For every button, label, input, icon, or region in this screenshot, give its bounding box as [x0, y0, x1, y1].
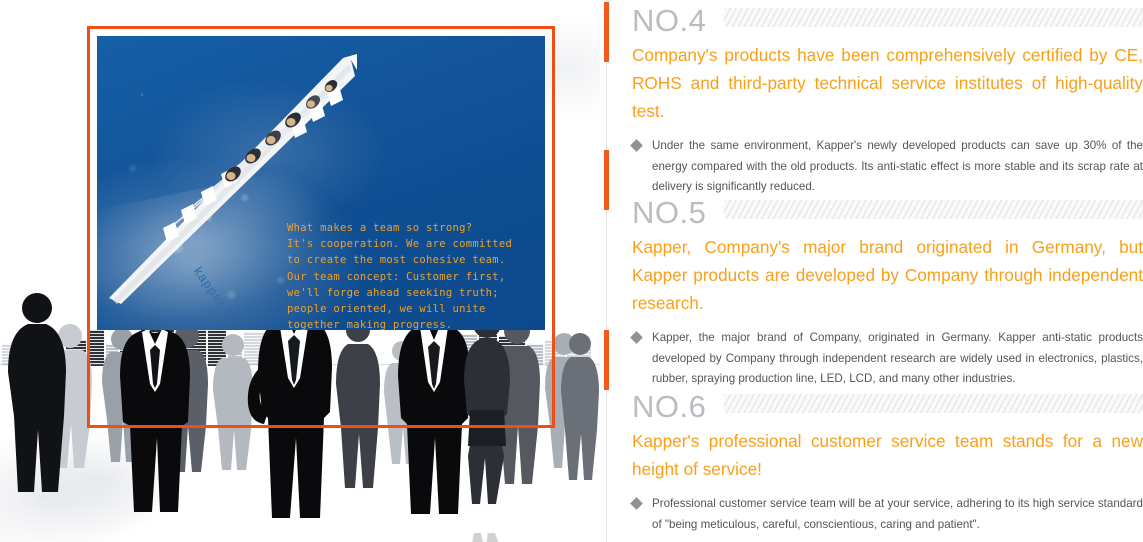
block-heading-no5: NO.5 [632, 196, 1143, 230]
block-number: NO.5 [632, 196, 706, 230]
caption-line: Our team concept: Customer first, [287, 269, 537, 285]
content-block-no4: NO.4 Company's products have been compre… [632, 4, 1143, 198]
left-visual-panel: kapper What makes a team so strong? It's… [0, 0, 600, 542]
silhouette-person-front [0, 288, 74, 494]
hatch-stripe [724, 394, 1143, 413]
boat-brand-label: kapper [191, 264, 230, 310]
caption-line: to create the most cohesive team. [287, 252, 537, 268]
diamond-bullet-icon [630, 497, 643, 510]
caption-line: What makes a team so strong? [287, 220, 537, 236]
diamond-bullet-icon [630, 331, 643, 344]
silhouette-person-front [556, 330, 600, 482]
caption-line: people oriented, we will unite [287, 301, 537, 317]
bullet-text: Kapper, the major brand of Company, orig… [652, 328, 1143, 390]
caption-line: together making progress. [287, 317, 537, 330]
content-block-no5: NO.5 Kapper, Company's major brand origi… [632, 196, 1143, 390]
block-lead-text: Company's products have been comprehensi… [632, 41, 1143, 125]
vertical-rail [606, 0, 607, 542]
block-lead-text: Kapper, Company's major brand originated… [632, 233, 1143, 317]
bullet-item: Professional customer service team will … [632, 494, 1143, 535]
block-heading-no6: NO.6 [632, 390, 1143, 424]
block-lead-text: Kapper's professional customer service t… [632, 427, 1143, 483]
bullet-item: Kapper, the major brand of Company, orig… [632, 328, 1143, 390]
bullet-text: Under the same environment, Kapper's new… [652, 136, 1143, 198]
rail-segment-3 [604, 330, 609, 390]
floor-reflection [452, 530, 522, 542]
block-heading-no4: NO.4 [632, 4, 1143, 38]
content-block-no6: NO.6 Kapper's professional customer serv… [632, 390, 1143, 535]
bullet-item: Under the same environment, Kapper's new… [632, 136, 1143, 198]
right-content-panel: NO.4 Company's products have been compre… [600, 0, 1143, 542]
team-rowing-photo: kapper What makes a team so strong? It's… [97, 36, 545, 330]
rail-segment-1 [604, 2, 609, 62]
hatch-stripe [724, 200, 1143, 219]
page-root: kapper What makes a team so strong? It's… [0, 0, 1143, 542]
photo-caption-overlay: What makes a team so strong? It's cooper… [287, 220, 537, 330]
diamond-bullet-icon [630, 139, 643, 152]
caption-line: we'll forge ahead seeking truth; [287, 285, 537, 301]
hatch-stripe [724, 8, 1143, 27]
block-number: NO.6 [632, 390, 706, 424]
rail-segment-2 [604, 150, 609, 210]
bullet-text: Professional customer service team will … [652, 494, 1143, 535]
block-number: NO.4 [632, 4, 706, 38]
caption-line: It's cooperation. We are committed [287, 236, 537, 252]
